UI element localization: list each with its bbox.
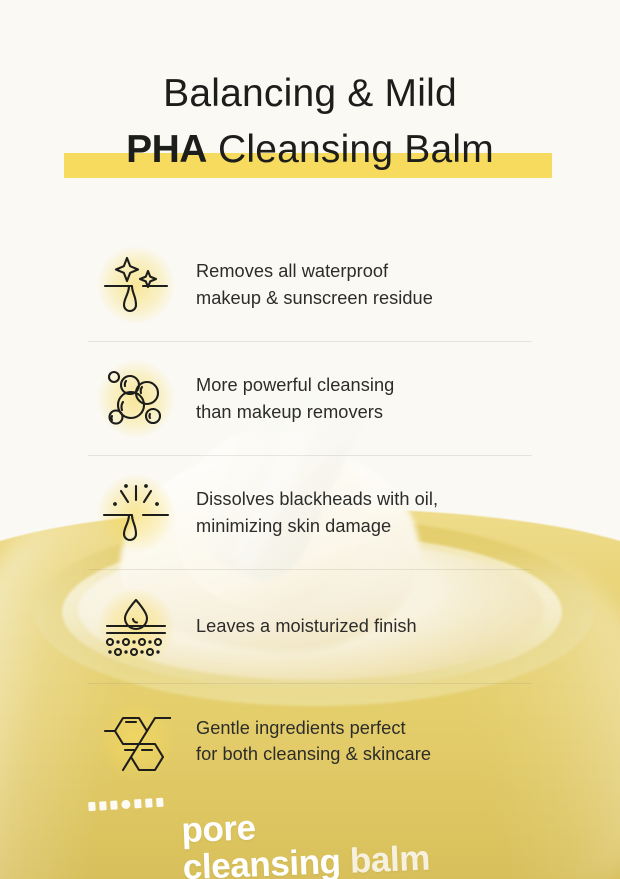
label-product-name: pore cleansing balm — [181, 798, 556, 879]
label-mark — [145, 798, 153, 807]
molecule-icon — [88, 693, 184, 789]
label-line-2-sub: balm — [340, 839, 431, 879]
pore-burst-icon — [88, 465, 184, 561]
feature-list: Removes all waterproof makeup & sunscree… — [88, 228, 532, 798]
feature-text-line-2: than makeup removers — [196, 399, 394, 425]
feature-text: Gentle ingredients perfect for both clea… — [184, 715, 431, 768]
feature-text-line-2: for both cleansing & skincare — [196, 741, 431, 767]
feature-text: Removes all waterproof makeup & sunscree… — [184, 258, 433, 311]
label-mark — [121, 799, 131, 809]
bubbles-icon — [88, 351, 184, 447]
feature-text-line-2: makeup & sunscreen residue — [196, 285, 433, 311]
product-label: pore cleansing balm — [84, 786, 554, 879]
page-title: Balancing & Mild PHA Cleansing Balm — [0, 74, 620, 179]
infographic-canvas: Balancing & Mild PHA Cleansing Balm Remo… — [0, 0, 620, 879]
feature-item-powerful-cleansing: More powerful cleansing than makeup remo… — [88, 342, 532, 456]
feature-text-line-2: minimizing skin damage — [196, 513, 438, 539]
droplet-moisture-icon — [88, 579, 184, 675]
label-mark — [134, 798, 142, 807]
feature-text: Leaves a moisturized finish — [184, 613, 417, 639]
feature-item-dissolves-blackheads: Dissolves blackheads with oil, minimizin… — [88, 456, 532, 570]
feature-text: Dissolves blackheads with oil, minimizin… — [184, 486, 438, 539]
label-line-2-main: cleansing — [182, 842, 341, 879]
feature-text-line-1: More powerful cleansing — [196, 372, 394, 398]
feature-item-moisturized-finish: Leaves a moisturized finish — [88, 570, 532, 684]
label-mark — [99, 801, 107, 810]
title-pha-bold: PHA — [126, 128, 207, 171]
feature-text-line-1: Leaves a moisturized finish — [196, 613, 417, 639]
feature-text-line-1: Dissolves blackheads with oil, — [196, 486, 438, 512]
label-mark — [156, 797, 164, 806]
label-mark — [88, 801, 96, 810]
label-mark — [110, 800, 118, 809]
title-line-2-rest: Cleansing Balm — [207, 128, 494, 171]
feature-text-line-1: Removes all waterproof — [196, 258, 433, 284]
feature-text: More powerful cleansing than makeup remo… — [184, 372, 394, 425]
pore-sparkle-icon — [88, 237, 184, 333]
title-line-2: PHA Cleansing Balm — [0, 125, 620, 176]
label-line-1: pore — [181, 808, 257, 850]
feature-text-line-1: Gentle ingredients perfect — [196, 715, 431, 741]
feature-item-removes-makeup: Removes all waterproof makeup & sunscree… — [88, 228, 532, 342]
title-line-2-wrapper: PHA Cleansing Balm — [0, 125, 620, 179]
title-line-1: Balancing & Mild — [0, 74, 620, 115]
